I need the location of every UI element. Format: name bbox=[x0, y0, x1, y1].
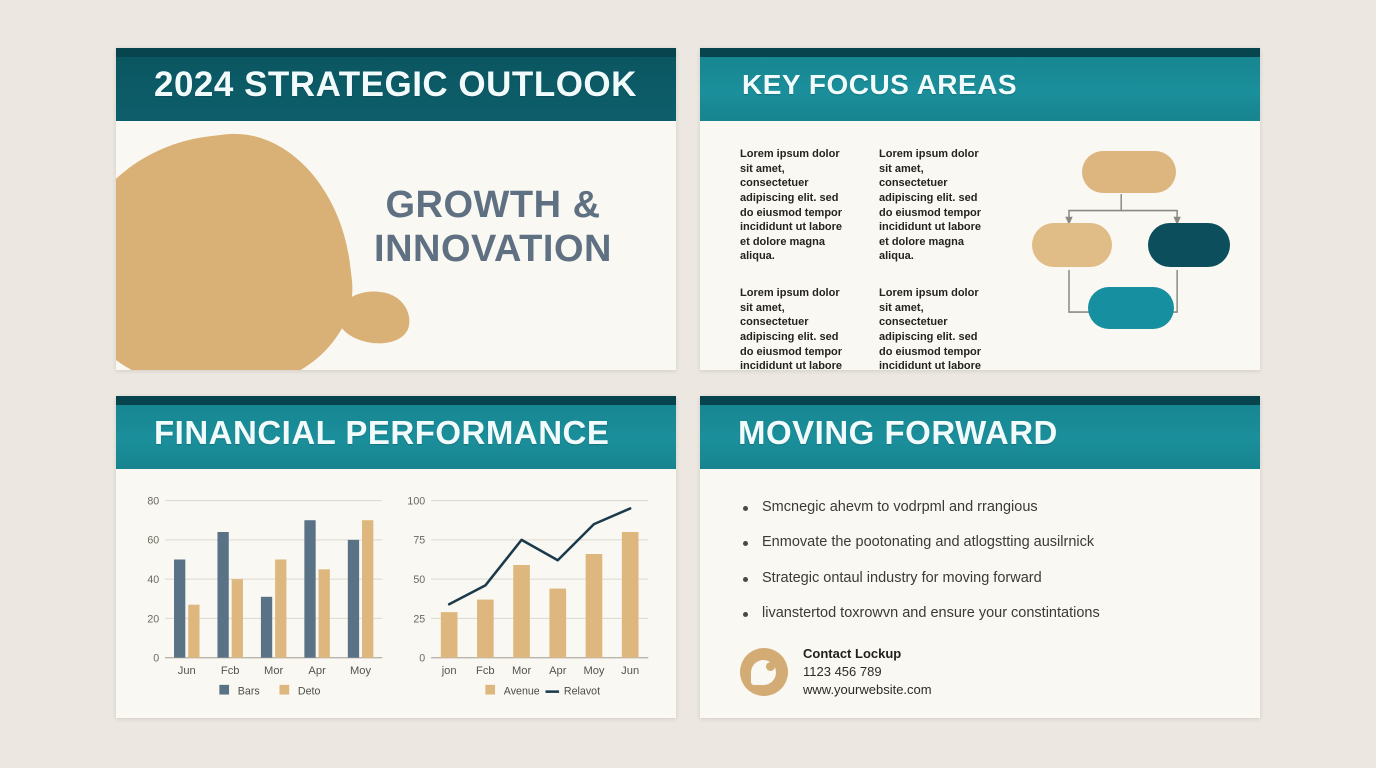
combo-bar-line-chart: 0255075100jonFcbMorAprMoyJunAvenueRelavo… bbox=[396, 487, 662, 712]
bullet-list: Smcnegic ahevm to vodrpml and rrangious … bbox=[740, 499, 1220, 623]
svg-text:Mor: Mor bbox=[264, 665, 283, 677]
contact-name: Contact Lockup bbox=[803, 645, 932, 663]
list-item: Strategic ontaul industry for moving for… bbox=[740, 570, 1220, 587]
svg-text:Jun: Jun bbox=[178, 665, 196, 677]
combo-bar-line-chart-svg: 0255075100jonFcbMorAprMoyJunAvenueRelavo… bbox=[396, 487, 662, 712]
moving-forward-header-text: MOVING FORWARD bbox=[700, 414, 1058, 452]
contact-lockup: Contact Lockup 1123 456 789 www.yourwebs… bbox=[740, 645, 1220, 700]
svg-text:Avenue: Avenue bbox=[504, 686, 540, 698]
diagram-node-right[interactable] bbox=[1148, 223, 1230, 267]
decorative-blob-large bbox=[116, 121, 364, 370]
title-slide[interactable]: 2024 STRATEGIC OUTLOOK GROWTH & INNOVATI… bbox=[116, 48, 676, 370]
key-focus-header-text: KEY FOCUS AREAS bbox=[700, 69, 1017, 101]
title-slide-header: 2024 STRATEGIC OUTLOOK bbox=[116, 48, 676, 121]
paragraph: Lorem ipsum dolor sit amet, consectetuer… bbox=[740, 286, 853, 370]
key-focus-body: Lorem ipsum dolor sit amet, consectetuer… bbox=[700, 121, 1260, 370]
svg-text:Relavot: Relavot bbox=[564, 686, 600, 698]
svg-text:Apr: Apr bbox=[549, 665, 567, 677]
svg-text:Deto: Deto bbox=[298, 686, 321, 698]
list-item: Enmovate the pootonating and atlogstting… bbox=[740, 534, 1220, 551]
moving-forward-header: MOVING FORWARD bbox=[700, 396, 1260, 469]
title-slide-body: GROWTH & INNOVATION bbox=[116, 121, 676, 370]
financial-performance-header-text: FINANCIAL PERFORMANCE bbox=[116, 414, 609, 452]
svg-text:0: 0 bbox=[153, 653, 159, 665]
slide-deck: 2024 STRATEGIC OUTLOOK GROWTH & INNOVATI… bbox=[0, 0, 1376, 768]
text-columns: Lorem ipsum dolor sit amet, consectetuer… bbox=[740, 147, 992, 348]
key-focus-slide[interactable]: KEY FOCUS AREAS Lorem ipsum dolor sit am… bbox=[700, 48, 1260, 370]
svg-text:Bars: Bars bbox=[238, 686, 260, 698]
svg-text:60: 60 bbox=[147, 535, 159, 547]
list-item: livanstertod toxrowvn and ensure your co… bbox=[740, 605, 1220, 622]
list-item: Smcnegic ahevm to vodrpml and rrangious bbox=[740, 499, 1220, 516]
diagram-node-bottom[interactable] bbox=[1088, 287, 1174, 329]
contact-details: Contact Lockup 1123 456 789 www.yourwebs… bbox=[803, 645, 932, 700]
svg-text:0: 0 bbox=[419, 653, 425, 665]
key-focus-header: KEY FOCUS AREAS bbox=[700, 48, 1260, 121]
grouped-bar-chart: 020406080JunFcbMorAprMoyBarsDeto bbox=[130, 487, 396, 712]
financial-performance-slide[interactable]: FINANCIAL PERFORMANCE 020406080JunFcbMor… bbox=[116, 396, 676, 718]
contact-phone[interactable]: 1123 456 789 bbox=[803, 663, 932, 681]
flow-diagram bbox=[1014, 147, 1234, 348]
paragraph: Lorem ipsum dolor sit amet, consectetuer… bbox=[879, 147, 992, 264]
logo-icon bbox=[740, 648, 788, 696]
svg-text:75: 75 bbox=[413, 535, 425, 547]
title-line-1: GROWTH & bbox=[348, 183, 638, 227]
title-slide-header-text: 2024 STRATEGIC OUTLOOK bbox=[116, 65, 637, 105]
header-top-strip bbox=[116, 48, 676, 57]
svg-text:Jun: Jun bbox=[621, 665, 639, 677]
svg-text:Fcb: Fcb bbox=[221, 665, 240, 677]
svg-text:25: 25 bbox=[413, 613, 425, 625]
text-column-right: Lorem ipsum dolor sit amet, consectetuer… bbox=[879, 147, 992, 348]
financial-performance-header: FINANCIAL PERFORMANCE bbox=[116, 396, 676, 469]
svg-text:Moy: Moy bbox=[350, 665, 371, 677]
svg-text:100: 100 bbox=[407, 495, 425, 507]
paragraph: Lorem ipsum dolor sit amet, consectetuer… bbox=[740, 147, 853, 264]
svg-text:Mor: Mor bbox=[512, 665, 531, 677]
header-top-strip bbox=[700, 396, 1260, 405]
financial-performance-body: 020406080JunFcbMorAprMoyBarsDeto 0255075… bbox=[116, 469, 676, 718]
moving-forward-slide[interactable]: MOVING FORWARD Smcnegic ahevm to vodrpml… bbox=[700, 396, 1260, 718]
svg-text:Fcb: Fcb bbox=[476, 665, 495, 677]
text-column-left: Lorem ipsum dolor sit amet, consectetuer… bbox=[740, 147, 853, 348]
svg-text:50: 50 bbox=[413, 574, 425, 586]
svg-text:jon: jon bbox=[441, 665, 457, 677]
svg-text:40: 40 bbox=[147, 574, 159, 586]
svg-text:20: 20 bbox=[147, 613, 159, 625]
contact-website[interactable]: www.yourwebsite.com bbox=[803, 681, 932, 699]
svg-text:Apr: Apr bbox=[308, 665, 326, 677]
moving-forward-body: Smcnegic ahevm to vodrpml and rrangious … bbox=[700, 469, 1260, 718]
header-top-strip bbox=[700, 48, 1260, 57]
paragraph: Lorem ipsum dolor sit amet, consectetuer… bbox=[879, 286, 992, 370]
grouped-bar-chart-svg: 020406080JunFcbMorAprMoyBarsDeto bbox=[130, 487, 396, 712]
title-slide-main-title: GROWTH & INNOVATION bbox=[348, 183, 638, 272]
svg-text:80: 80 bbox=[147, 495, 159, 507]
svg-text:Moy: Moy bbox=[583, 665, 604, 677]
diagram-node-top[interactable] bbox=[1082, 151, 1176, 193]
header-top-strip bbox=[116, 396, 676, 405]
title-line-2: INNOVATION bbox=[348, 227, 638, 271]
diagram-node-left[interactable] bbox=[1032, 223, 1112, 267]
